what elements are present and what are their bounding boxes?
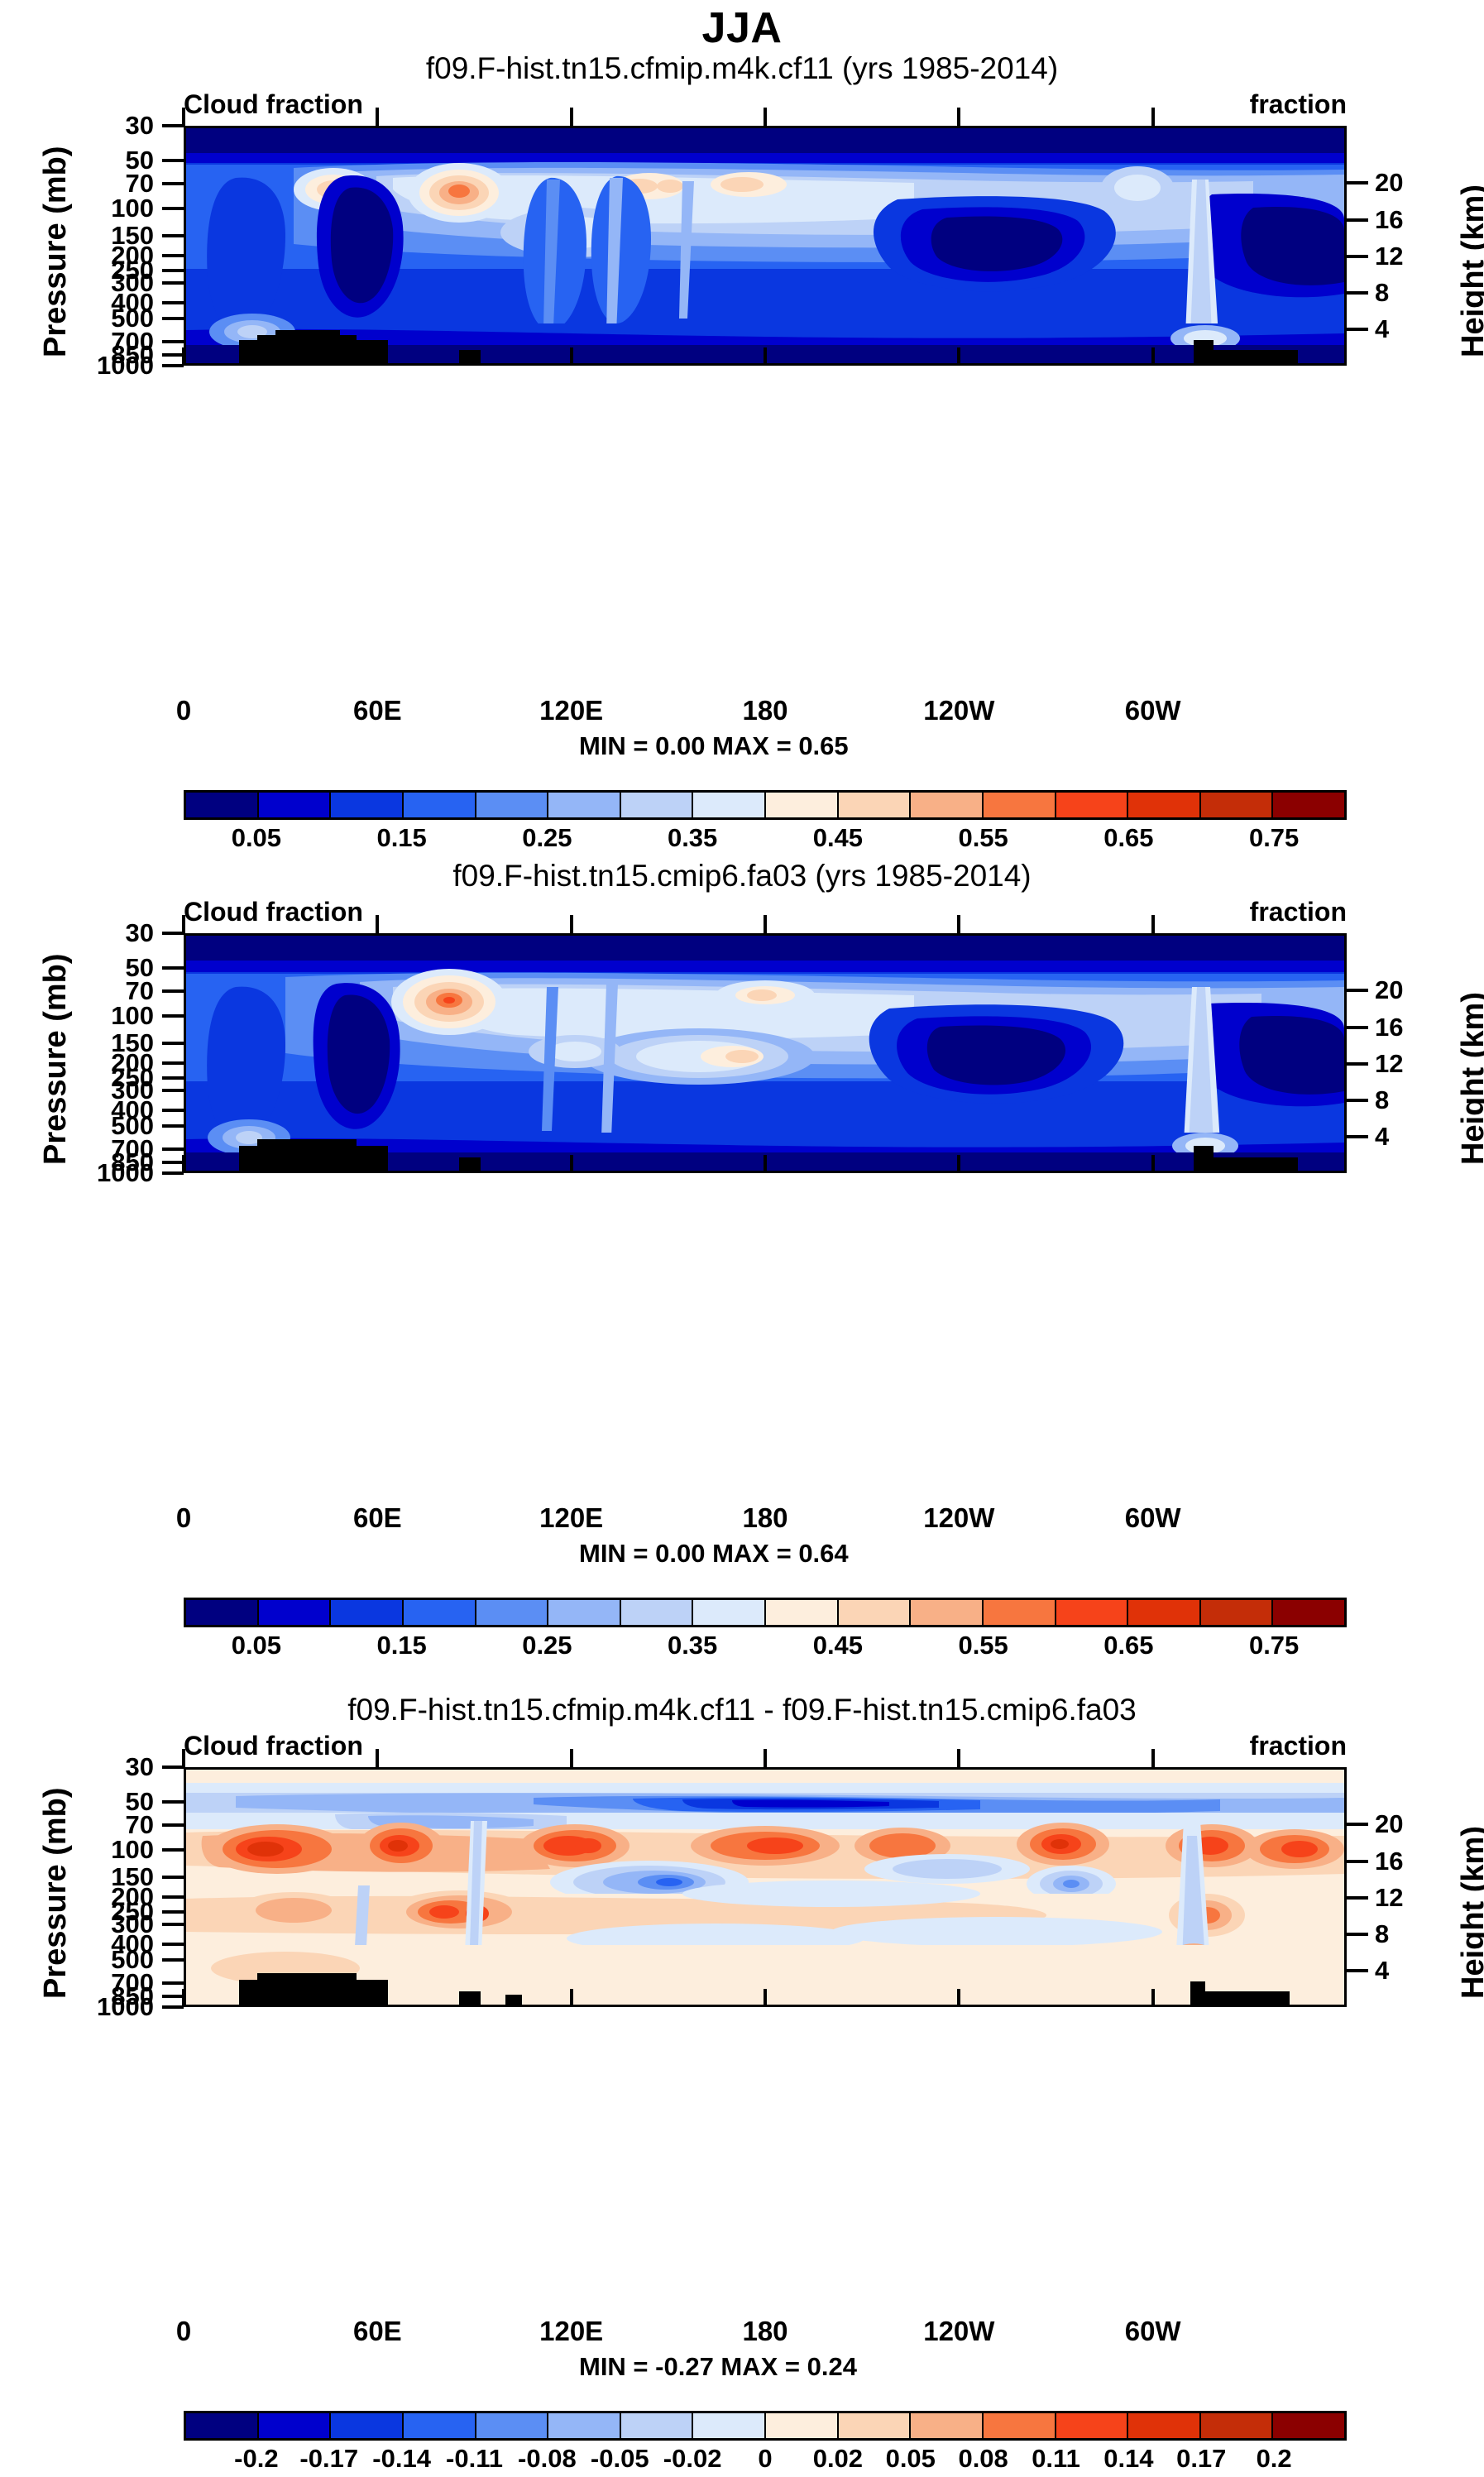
colorbar-swatch-14 bbox=[1201, 1600, 1274, 1625]
colorbar-swatch-10 bbox=[911, 2413, 984, 2438]
colorbar-swatch-1 bbox=[259, 1600, 332, 1625]
colorbar-swatch-3 bbox=[404, 793, 476, 817]
pressure-tick-label-70: 70 bbox=[126, 978, 154, 1004]
colorbar-swatch-8 bbox=[766, 793, 839, 817]
lon-tick-label-120E: 120E bbox=[539, 1502, 603, 1534]
pressure-tick-500 bbox=[162, 1958, 184, 1962]
pressure-tick-50 bbox=[162, 1800, 184, 1804]
pressure-tick-700 bbox=[162, 1147, 184, 1151]
colorbar-swatch-8 bbox=[766, 1600, 839, 1625]
pressure-tick-label-100: 100 bbox=[111, 195, 154, 221]
colorbar-swatch-11 bbox=[984, 1600, 1056, 1625]
colorbar-swatch-9 bbox=[839, 2413, 912, 2438]
lon-tick-top-60W bbox=[1151, 108, 1155, 126]
height-axis-title: Height (km) bbox=[1456, 184, 1484, 357]
lon-tick-label-60W: 60W bbox=[1125, 2316, 1181, 2347]
height-tick-label-8: 8 bbox=[1375, 1087, 1389, 1113]
lon-tick-top-120E bbox=[570, 108, 573, 126]
colorbar-swatch-3 bbox=[404, 1600, 476, 1625]
lon-tick-label-180: 180 bbox=[742, 2316, 787, 2347]
height-tick-label-4: 4 bbox=[1375, 1124, 1389, 1149]
height-tick-8 bbox=[1347, 1933, 1368, 1936]
height-tick-label-20: 20 bbox=[1375, 977, 1403, 1003]
lon-tick-label-60W: 60W bbox=[1125, 695, 1181, 726]
colorbar-tick-label-0.14: 0.14 bbox=[1103, 2444, 1153, 2474]
colorbar-swatch-13 bbox=[1128, 793, 1201, 817]
height-tick-label-4: 4 bbox=[1375, 316, 1389, 342]
colorbar-swatch-10 bbox=[911, 1600, 984, 1625]
pressure-tick-850 bbox=[162, 1995, 184, 1998]
colorbar-tick-label-0.15: 0.15 bbox=[376, 823, 426, 853]
height-tick-label-12: 12 bbox=[1375, 1885, 1403, 1910]
pressure-tick-250 bbox=[162, 1910, 184, 1914]
colorbar-swatch-12 bbox=[1056, 1600, 1129, 1625]
colorbar-swatch-4 bbox=[476, 2413, 549, 2438]
lon-tick-label-0: 0 bbox=[176, 1502, 191, 1534]
height-tick-16 bbox=[1347, 218, 1368, 222]
pressure-tick-label-30: 30 bbox=[126, 1754, 154, 1780]
colorbar-2: 0.050.150.250.350.450.550.650.75 bbox=[184, 1598, 1347, 1664]
lon-tick-top-60E bbox=[376, 108, 379, 126]
colorbar-swatch-5 bbox=[548, 793, 621, 817]
height-tick-label-20: 20 bbox=[1375, 1811, 1403, 1837]
colorbar-swatch-7 bbox=[693, 2413, 766, 2438]
colorbar-swatch-1 bbox=[259, 793, 332, 817]
lon-tick-top-120E bbox=[570, 1749, 573, 1767]
pressure-tick-100 bbox=[162, 1848, 184, 1852]
panel-1-variable-label: Cloud fraction bbox=[184, 89, 363, 120]
lon-tick-bottom-0 bbox=[182, 1155, 185, 1173]
colorbar-tick-label-0.05: 0.05 bbox=[232, 1631, 281, 1660]
height-tick-20 bbox=[1347, 181, 1368, 184]
lon-tick-top-180 bbox=[764, 108, 767, 126]
colorbar-swatch-2 bbox=[331, 1600, 404, 1625]
colorbar-tick-label--0.14: -0.14 bbox=[372, 2444, 431, 2474]
colorbar-swatch-5 bbox=[548, 2413, 621, 2438]
lon-tick-label-0: 0 bbox=[176, 2316, 191, 2347]
pressure-tick-30 bbox=[162, 1766, 184, 1769]
pressure-tick-850 bbox=[162, 1161, 184, 1164]
height-tick-label-4: 4 bbox=[1375, 1957, 1389, 1983]
panel-3-plot-area[interactable] bbox=[184, 1767, 1347, 2007]
lon-tick-bottom-120W bbox=[957, 1989, 960, 2007]
pressure-tick-50 bbox=[162, 966, 184, 970]
lon-tick-label-60W: 60W bbox=[1125, 1502, 1181, 1534]
height-tick-label-8: 8 bbox=[1375, 1921, 1389, 1947]
colorbar-tick-label-0.08: 0.08 bbox=[958, 2444, 1008, 2474]
lon-tick-label-120E: 120E bbox=[539, 695, 603, 726]
pressure-tick-500 bbox=[162, 1124, 184, 1128]
pressure-tick-70 bbox=[162, 182, 184, 185]
colorbar-swatch-6 bbox=[621, 1600, 694, 1625]
pressure-tick-500 bbox=[162, 317, 184, 320]
colorbar-swatch-0 bbox=[186, 793, 259, 817]
pressure-tick-400 bbox=[162, 1109, 184, 1112]
pressure-axis-title: Pressure (mb) bbox=[38, 953, 74, 1165]
height-tick-4 bbox=[1347, 328, 1368, 331]
panel-1-title: f09.F-hist.tn15.cfmip.m4k.cf11 (yrs 1985… bbox=[0, 51, 1484, 86]
panel-3-contour-field bbox=[186, 1770, 1344, 2005]
pressure-tick-150 bbox=[162, 1042, 184, 1045]
colorbar-tick-label-0.45: 0.45 bbox=[813, 823, 863, 853]
lon-tick-label-60E: 60E bbox=[353, 2316, 402, 2347]
panel-1-contour-field bbox=[186, 128, 1344, 363]
pressure-tick-label-1000: 1000 bbox=[97, 1160, 154, 1186]
colorbar-tick-label-0.75: 0.75 bbox=[1249, 1631, 1299, 1660]
panel-3-minmax-annotation: MIN = -0.27 MAX = 0.24 bbox=[579, 2352, 857, 2382]
height-tick-16 bbox=[1347, 1026, 1368, 1029]
lon-tick-top-0 bbox=[182, 108, 185, 126]
colorbar-swatch-13 bbox=[1128, 2413, 1201, 2438]
lon-tick-label-120W: 120W bbox=[923, 2316, 994, 2347]
pressure-tick-label-100: 100 bbox=[111, 1003, 154, 1028]
colorbar-tick-label-0.25: 0.25 bbox=[522, 1631, 572, 1660]
lon-tick-bottom-120W bbox=[957, 347, 960, 366]
lon-tick-top-180 bbox=[764, 915, 767, 933]
height-tick-20 bbox=[1347, 1823, 1368, 1826]
colorbar-2-swatches bbox=[184, 1598, 1347, 1627]
colorbar-tick-label--0.05: -0.05 bbox=[591, 2444, 649, 2474]
colorbar-swatch-2 bbox=[331, 2413, 404, 2438]
lon-tick-bottom-180 bbox=[764, 1155, 767, 1173]
lon-tick-bottom-120E bbox=[570, 347, 573, 366]
colorbar-1-swatches bbox=[184, 790, 1347, 820]
pressure-tick-label-30: 30 bbox=[126, 113, 154, 138]
colorbar-3-labels: -0.2-0.17-0.14-0.11-0.08-0.05-0.0200.020… bbox=[184, 2441, 1347, 2477]
lon-tick-label-0: 0 bbox=[176, 695, 191, 726]
lon-tick-bottom-120E bbox=[570, 1989, 573, 2007]
colorbar-1: 0.050.150.250.350.450.550.650.75 bbox=[184, 790, 1347, 856]
colorbar-swatch-12 bbox=[1056, 2413, 1129, 2438]
colorbar-swatch-10 bbox=[911, 793, 984, 817]
colorbar-swatch-9 bbox=[839, 793, 912, 817]
colorbar-tick-label-0.75: 0.75 bbox=[1249, 823, 1299, 853]
colorbar-tick-label-0.65: 0.65 bbox=[1103, 823, 1153, 853]
pressure-tick-200 bbox=[162, 1895, 184, 1899]
panel-2-title: f09.F-hist.tn15.cmip6.fa03 (yrs 1985-201… bbox=[0, 859, 1484, 894]
lon-tick-label-180: 180 bbox=[742, 695, 787, 726]
pressure-tick-label-100: 100 bbox=[111, 1837, 154, 1862]
colorbar-swatch-4 bbox=[476, 1600, 549, 1625]
colorbar-1-labels: 0.050.150.250.350.450.550.650.75 bbox=[184, 820, 1347, 856]
pressure-tick-150 bbox=[162, 234, 184, 237]
lon-tick-top-120W bbox=[957, 915, 960, 933]
lon-tick-bottom-60E bbox=[376, 1155, 379, 1173]
lon-tick-top-60W bbox=[1151, 915, 1155, 933]
height-tick-12 bbox=[1347, 1062, 1368, 1066]
panel-3-units-label: fraction bbox=[1250, 1731, 1347, 1761]
colorbar-tick-label-0.15: 0.15 bbox=[376, 1631, 426, 1660]
height-tick-label-12: 12 bbox=[1375, 243, 1403, 269]
colorbar-tick-label-0.55: 0.55 bbox=[958, 823, 1008, 853]
pressure-tick-100 bbox=[162, 207, 184, 210]
colorbar-tick-label--0.02: -0.02 bbox=[663, 2444, 722, 2474]
lon-tick-top-0 bbox=[182, 1749, 185, 1767]
lon-tick-top-180 bbox=[764, 1749, 767, 1767]
colorbar-tick-label--0.11: -0.11 bbox=[446, 2444, 503, 2474]
colorbar-swatch-4 bbox=[476, 793, 549, 817]
pressure-tick-100 bbox=[162, 1014, 184, 1018]
colorbar-tick-label-0.45: 0.45 bbox=[813, 1631, 863, 1660]
lon-tick-bottom-120E bbox=[570, 1155, 573, 1173]
colorbar-tick-label--0.2: -0.2 bbox=[234, 2444, 278, 2474]
pressure-tick-label-30: 30 bbox=[126, 920, 154, 946]
colorbar-tick-label-0.2: 0.2 bbox=[1257, 2444, 1292, 2474]
pressure-tick-label-1000: 1000 bbox=[97, 1994, 154, 2019]
pressure-axis-title: Pressure (mb) bbox=[38, 146, 74, 357]
panel-3-variable-label: Cloud fraction bbox=[184, 1731, 363, 1761]
height-axis-title: Height (km) bbox=[1456, 992, 1484, 1165]
panel-1-units-label: fraction bbox=[1250, 89, 1347, 120]
lon-tick-label-60E: 60E bbox=[353, 695, 402, 726]
pressure-tick-400 bbox=[162, 1943, 184, 1946]
colorbar-swatch-7 bbox=[693, 793, 766, 817]
panel-2-units-label: fraction bbox=[1250, 897, 1347, 927]
pressure-tick-70 bbox=[162, 1823, 184, 1827]
height-tick-label-20: 20 bbox=[1375, 170, 1403, 195]
lon-tick-label-180: 180 bbox=[742, 1502, 787, 1534]
lon-tick-bottom-60W bbox=[1151, 347, 1155, 366]
pressure-tick-700 bbox=[162, 1981, 184, 1985]
pressure-tick-200 bbox=[162, 1061, 184, 1065]
lon-tick-top-60E bbox=[376, 1749, 379, 1767]
lon-tick-bottom-180 bbox=[764, 347, 767, 366]
panel-2-contour-field bbox=[186, 936, 1344, 1171]
panel-2-minmax-annotation: MIN = 0.00 MAX = 0.64 bbox=[579, 1539, 849, 1569]
height-axis-title: Height (km) bbox=[1456, 1826, 1484, 1999]
colorbar-tick-label--0.17: -0.17 bbox=[299, 2444, 358, 2474]
height-tick-8 bbox=[1347, 1099, 1368, 1102]
colorbar-swatch-7 bbox=[693, 1600, 766, 1625]
colorbar-swatch-11 bbox=[984, 793, 1056, 817]
pressure-tick-1000 bbox=[162, 1171, 184, 1175]
colorbar-2-labels: 0.050.150.250.350.450.550.650.75 bbox=[184, 1627, 1347, 1664]
lon-tick-label-120W: 120W bbox=[923, 695, 994, 726]
panel-1-minmax-annotation: MIN = 0.00 MAX = 0.65 bbox=[579, 731, 849, 761]
colorbar-swatch-15 bbox=[1273, 1600, 1344, 1625]
pressure-tick-700 bbox=[162, 340, 184, 343]
pressure-tick-1000 bbox=[162, 364, 184, 367]
height-tick-label-16: 16 bbox=[1375, 1014, 1403, 1040]
pressure-tick-250 bbox=[162, 269, 184, 272]
colorbar-tick-label-0: 0 bbox=[758, 2444, 772, 2474]
pressure-tick-30 bbox=[162, 932, 184, 935]
height-tick-4 bbox=[1347, 1135, 1368, 1138]
colorbar-swatch-2 bbox=[331, 793, 404, 817]
height-tick-label-16: 16 bbox=[1375, 207, 1403, 232]
height-tick-12 bbox=[1347, 255, 1368, 258]
height-tick-12 bbox=[1347, 1896, 1368, 1900]
pressure-axis-title: Pressure (mb) bbox=[38, 1787, 74, 1999]
colorbar-swatch-0 bbox=[186, 2413, 259, 2438]
colorbar-tick-label-0.17: 0.17 bbox=[1176, 2444, 1226, 2474]
pressure-tick-300 bbox=[162, 281, 184, 285]
colorbar-3-swatches bbox=[184, 2411, 1347, 2441]
lon-tick-label-60E: 60E bbox=[353, 1502, 402, 1534]
lon-tick-bottom-180 bbox=[764, 1989, 767, 2007]
lon-tick-bottom-60W bbox=[1151, 1989, 1155, 2007]
height-tick-label-8: 8 bbox=[1375, 280, 1389, 305]
colorbar-tick-label-0.11: 0.11 bbox=[1032, 2444, 1080, 2474]
pressure-tick-150 bbox=[162, 1876, 184, 1879]
colorbar-swatch-9 bbox=[839, 1600, 912, 1625]
lon-tick-top-120E bbox=[570, 915, 573, 933]
lon-tick-top-0 bbox=[182, 915, 185, 933]
colorbar-tick-label-0.25: 0.25 bbox=[522, 823, 572, 853]
pressure-tick-850 bbox=[162, 353, 184, 357]
height-tick-label-12: 12 bbox=[1375, 1051, 1403, 1076]
height-tick-label-16: 16 bbox=[1375, 1848, 1403, 1874]
height-tick-20 bbox=[1347, 989, 1368, 992]
pressure-tick-label-70: 70 bbox=[126, 170, 154, 196]
lon-tick-bottom-60E bbox=[376, 347, 379, 366]
colorbar-tick-label-0.35: 0.35 bbox=[668, 823, 717, 853]
panel-2-variable-label: Cloud fraction bbox=[184, 897, 363, 927]
pressure-tick-30 bbox=[162, 124, 184, 127]
lon-tick-top-120W bbox=[957, 1749, 960, 1767]
height-tick-4 bbox=[1347, 1969, 1368, 1972]
pressure-tick-200 bbox=[162, 254, 184, 257]
colorbar-swatch-8 bbox=[766, 2413, 839, 2438]
lon-tick-bottom-60E bbox=[376, 1989, 379, 2007]
pressure-tick-300 bbox=[162, 1089, 184, 1092]
colorbar-swatch-14 bbox=[1201, 793, 1274, 817]
colorbar-swatch-12 bbox=[1056, 793, 1129, 817]
pressure-tick-label-70: 70 bbox=[126, 1812, 154, 1837]
panel-2-plot-area[interactable] bbox=[184, 933, 1347, 1173]
colorbar-swatch-15 bbox=[1273, 2413, 1344, 2438]
lon-tick-top-60W bbox=[1151, 1749, 1155, 1767]
colorbar-swatch-3 bbox=[404, 2413, 476, 2438]
colorbar-tick-label--0.08: -0.08 bbox=[518, 2444, 577, 2474]
colorbar-tick-label-0.65: 0.65 bbox=[1103, 1631, 1153, 1660]
lon-tick-bottom-0 bbox=[182, 1989, 185, 2007]
colorbar-tick-label-0.35: 0.35 bbox=[668, 1631, 717, 1660]
colorbar-3: -0.2-0.17-0.14-0.11-0.08-0.05-0.0200.020… bbox=[184, 2411, 1347, 2477]
pressure-tick-400 bbox=[162, 301, 184, 304]
colorbar-swatch-14 bbox=[1201, 2413, 1274, 2438]
lon-tick-bottom-0 bbox=[182, 347, 185, 366]
pressure-tick-label-1000: 1000 bbox=[97, 352, 154, 378]
lon-tick-bottom-120W bbox=[957, 1155, 960, 1173]
colorbar-tick-label-0.05: 0.05 bbox=[886, 2444, 936, 2474]
colorbar-swatch-15 bbox=[1273, 793, 1344, 817]
pressure-tick-50 bbox=[162, 159, 184, 162]
lon-tick-label-120E: 120E bbox=[539, 2316, 603, 2347]
lon-tick-top-120W bbox=[957, 108, 960, 126]
lon-tick-label-120W: 120W bbox=[923, 1502, 994, 1534]
colorbar-swatch-13 bbox=[1128, 1600, 1201, 1625]
pressure-tick-250 bbox=[162, 1076, 184, 1080]
pressure-tick-300 bbox=[162, 1923, 184, 1926]
colorbar-swatch-5 bbox=[548, 1600, 621, 1625]
colorbar-swatch-6 bbox=[621, 2413, 694, 2438]
colorbar-swatch-11 bbox=[984, 2413, 1056, 2438]
pressure-tick-70 bbox=[162, 989, 184, 993]
figure-title: JJA bbox=[0, 3, 1484, 53]
height-tick-16 bbox=[1347, 1860, 1368, 1863]
lon-tick-top-60E bbox=[376, 915, 379, 933]
colorbar-swatch-1 bbox=[259, 2413, 332, 2438]
panel-3-title: f09.F-hist.tn15.cfmip.m4k.cf11 - f09.F-h… bbox=[0, 1693, 1484, 1727]
colorbar-tick-label-0.55: 0.55 bbox=[958, 1631, 1008, 1660]
pressure-tick-1000 bbox=[162, 2005, 184, 2009]
colorbar-tick-label-0.05: 0.05 bbox=[232, 823, 281, 853]
colorbar-tick-label-0.02: 0.02 bbox=[813, 2444, 863, 2474]
lon-tick-bottom-60W bbox=[1151, 1155, 1155, 1173]
height-tick-8 bbox=[1347, 291, 1368, 295]
panel-1-plot-area[interactable] bbox=[184, 126, 1347, 366]
colorbar-swatch-0 bbox=[186, 1600, 259, 1625]
colorbar-swatch-6 bbox=[621, 793, 694, 817]
